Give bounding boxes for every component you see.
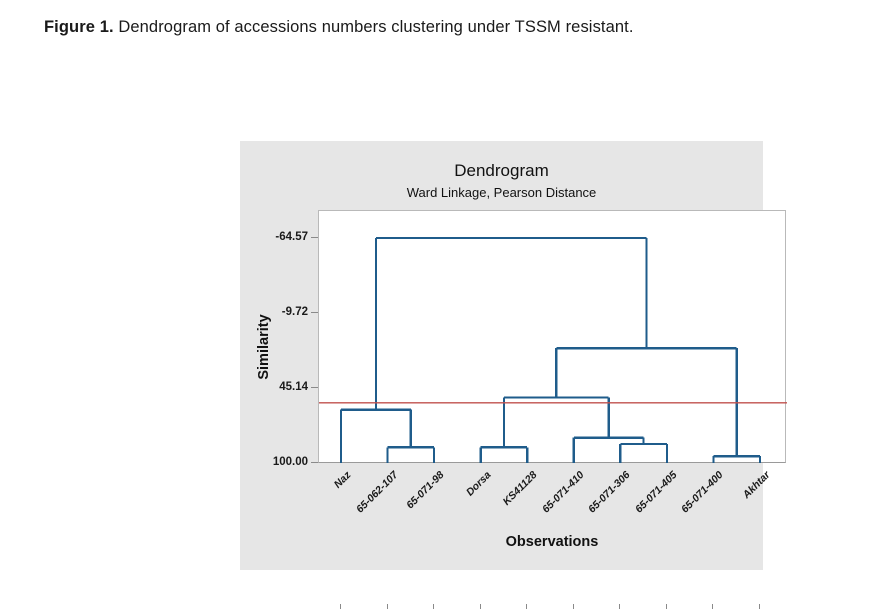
y-axis-tick-mark	[311, 462, 318, 463]
chart-title: Dendrogram	[240, 161, 763, 181]
x-axis-title: Observations	[318, 534, 786, 550]
x-axis-tick-label: KS41128	[501, 469, 540, 508]
x-axis-tick-label: 65-071-98	[404, 469, 446, 511]
x-axis-tick-mark	[480, 604, 481, 609]
figure-caption: Figure 1. Dendrogram of accessions numbe…	[44, 18, 634, 37]
x-axis-tick-label: 65-071-306	[586, 469, 632, 515]
y-axis-tick-label: -64.57	[275, 231, 308, 243]
x-axis-tick-label: 65-071-405	[633, 469, 679, 515]
figure-caption-text: Dendrogram of accessions numbers cluster…	[114, 18, 634, 36]
x-axis-tick-mark	[666, 604, 667, 609]
x-axis-tick-label: 65-071-400	[679, 469, 725, 515]
y-axis-tick-label: -9.72	[282, 306, 308, 318]
x-axis-tick-mark	[387, 604, 388, 609]
x-axis-tick-mark	[433, 604, 434, 609]
y-axis-tick-mark	[311, 312, 318, 313]
dendrogram-chart-panel: Dendrogram Ward Linkage, Pearson Distanc…	[240, 141, 763, 570]
y-axis-tick-label: 100.00	[273, 456, 308, 468]
y-axis-tick-mark	[311, 387, 318, 388]
x-axis-tick-mark	[619, 604, 620, 609]
x-axis-tick-mark	[712, 604, 713, 609]
chart-subtitle: Ward Linkage, Pearson Distance	[240, 185, 763, 200]
x-axis-tick-mark	[573, 604, 574, 609]
x-axis-tick-mark	[759, 604, 760, 609]
dendrogram-svg	[319, 211, 787, 464]
x-axis-tick-mark	[526, 604, 527, 609]
x-axis-tick-label: 65-062-107	[354, 469, 400, 515]
y-axis-tick-labels: -64.57-9.7245.14100.00	[252, 141, 308, 570]
y-axis-tick-mark	[311, 237, 318, 238]
x-axis-tick-label: 65-071-410	[540, 469, 586, 515]
figure-caption-label: Figure 1.	[44, 18, 114, 36]
plot-area	[318, 210, 786, 463]
x-axis-tick-label: Naz	[332, 469, 354, 491]
y-axis-tick-label: 45.14	[279, 381, 308, 393]
x-axis-tick-mark	[340, 604, 341, 609]
x-axis-tick-label: Dorsa	[464, 469, 494, 499]
x-axis-tick-label: Akhtar	[740, 469, 772, 501]
